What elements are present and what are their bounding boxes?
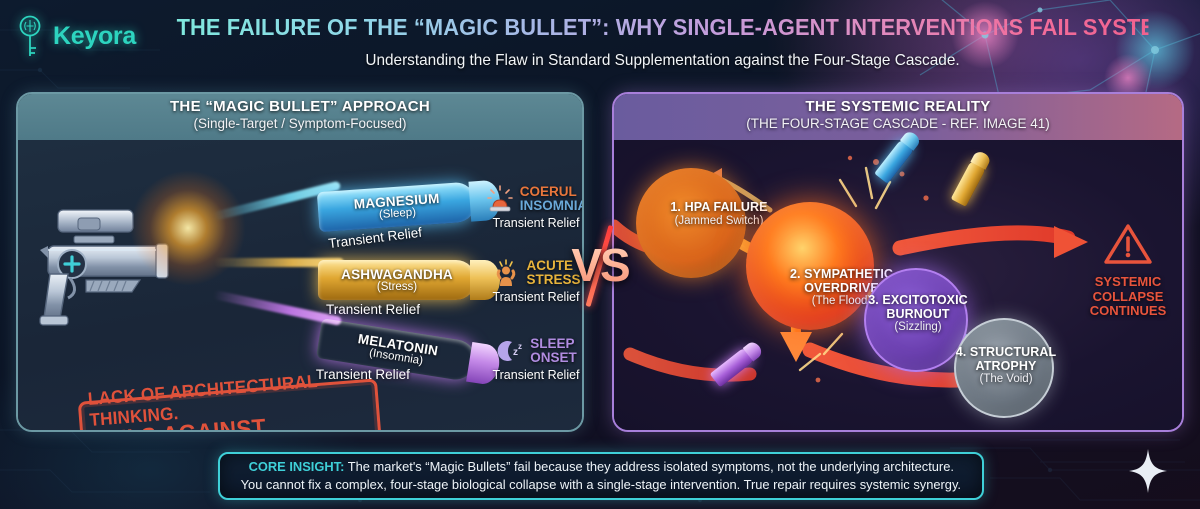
left-panel-body: MAGNESIUM (Sleep) Transient Relief ASHWA…: [18, 140, 582, 430]
versus-label: VS: [567, 228, 633, 302]
stage-title: 4. STRUCTURAL ATROPHY: [944, 346, 1068, 373]
right-panel-body: 1. HPA FAILURE (Jammed Switch) 2. SYMPAT…: [614, 140, 1182, 430]
pistol-illustration: [28, 188, 243, 348]
warning-triangle-icon: [1103, 222, 1153, 266]
magic-bullet-panel: THE “MAGIC BULLET” APPROACH (Single-Targ…: [16, 92, 584, 432]
right-panel-subtitle: (THE FOUR-STAGE CASCADE - REF. IMAGE 41): [614, 116, 1182, 131]
symptom-line2: ONSET: [530, 351, 577, 365]
stage-sub: (Sizzling): [850, 321, 986, 333]
bullet-item-magnesium: MAGNESIUM (Sleep) Transient Relief: [317, 180, 499, 232]
brand-logo[interactable]: Keyora: [14, 14, 136, 58]
symptom-sleep-onset: z z SLEEP ONSET Transient Relief: [476, 336, 584, 382]
key-brain-icon: [14, 14, 48, 58]
relief-label: Transient Relief: [326, 302, 420, 317]
stage-title: 1. HPA FAILURE: [644, 201, 794, 215]
stressed-person-icon: [491, 258, 521, 288]
deflected-bullet-blue: [874, 137, 916, 184]
page-subtitle: Understanding the Flaw in Standard Suppl…: [161, 52, 1164, 70]
page-title: THE FAILURE OF THE “MAGIC BULLET”: WHY S…: [177, 14, 1149, 41]
infographic-canvas: Keyora THE FAILURE OF THE “MAGIC BULLET”…: [0, 0, 1200, 509]
header: Keyora THE FAILURE OF THE “MAGIC BULLET”…: [0, 0, 1200, 88]
stage-node-4: 4. STRUCTURAL ATROPHY (The Void): [954, 318, 1054, 418]
deflected-bullet-gold: [951, 158, 988, 207]
bullet-shape: MAGNESIUM (Sleep): [317, 181, 477, 232]
stage-title: 3. EXCITOTOXIC BURNOUT: [850, 294, 986, 321]
left-panel-title: THE “MAGIC BULLET” APPROACH: [18, 98, 582, 115]
moon-zzz-icon: z z: [495, 336, 525, 366]
bullet-sub: (Sleep): [379, 206, 417, 221]
stage-sub: (The Void): [944, 373, 1068, 385]
core-insight-line2: You cannot fix a complex, four-stage bio…: [241, 476, 961, 494]
systemic-reality-panel: THE SYSTEMIC REALITY (THE FOUR-STAGE CAS…: [612, 92, 1184, 432]
left-panel-header: THE “MAGIC BULLET” APPROACH (Single-Targ…: [18, 94, 582, 140]
bullet-sub: (Stress): [377, 281, 417, 293]
svg-text:z: z: [518, 342, 522, 351]
core-insight-bar: CORE INSIGHT: The market's “Magic Bullet…: [218, 452, 984, 500]
core-insight-text1: The market's “Magic Bullets” fail becaus…: [347, 459, 953, 474]
versus-badge: VS: [567, 228, 633, 302]
pistol-icon: [28, 188, 243, 348]
outcome-line1: SYSTEMIC: [1076, 275, 1180, 290]
core-insight-line1: CORE INSIGHT: The market's “Magic Bullet…: [248, 458, 953, 476]
outcome-line3: CONTINUES: [1076, 304, 1180, 319]
symptom-line1: SLEEP: [530, 337, 577, 351]
right-panel-header: THE SYSTEMIC REALITY (THE FOUR-STAGE CAS…: [614, 94, 1182, 140]
symptom-line1: COERUL: [520, 185, 584, 199]
symptom-insomnia: COERUL INSOMNIA Transient Relief: [476, 184, 584, 230]
siren-icon: [485, 184, 515, 214]
right-panel-title: THE SYSTEMIC REALITY: [614, 98, 1182, 115]
symptom-line2: INSOMNIA: [520, 199, 584, 213]
bullet-item-ashwagandha: ASHWAGANDHA (Stress) Transient Relief: [318, 260, 498, 300]
bullet-shape: ASHWAGANDHA (Stress): [318, 260, 476, 300]
brand-name: Keyora: [53, 22, 136, 51]
failure-stamp: LACK OF ARCHITECTURAL THINKING. FAILS AG…: [78, 378, 383, 432]
stage-node-1: 1. HPA FAILURE (Jammed Switch): [636, 168, 746, 278]
outcome-line2: COLLAPSE: [1076, 290, 1180, 305]
bullet-name: ASHWAGANDHA: [341, 267, 453, 282]
systemic-collapse-outcome: SYSTEMIC COLLAPSE CONTINUES: [1076, 222, 1180, 319]
deflected-bullet-violet: [710, 346, 757, 388]
core-insight-label: CORE INSIGHT:: [248, 459, 344, 474]
sparkle-icon: [1128, 448, 1168, 494]
left-panel-subtitle: (Single-Target / Symptom-Focused): [18, 116, 582, 131]
symptom-relief: Transient Relief: [476, 368, 584, 382]
